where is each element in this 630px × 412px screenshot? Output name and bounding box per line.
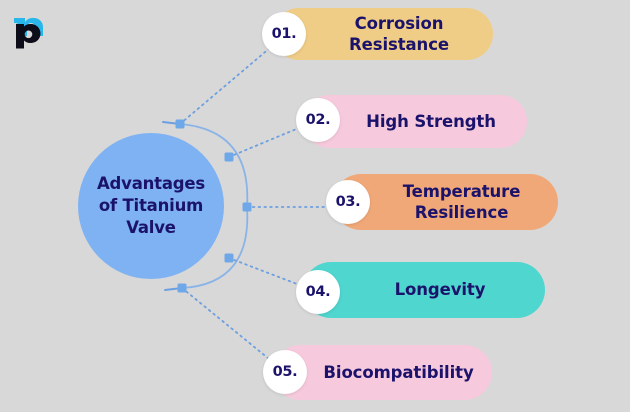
arc-node-3 [243,203,252,212]
item-label-1: Corrosion Resistance [307,13,459,55]
item-label-2: High Strength [324,111,506,132]
arc-node-4 [225,254,234,263]
arc-node-5 [178,284,187,293]
item-number-4: 04. [306,284,331,300]
item-bar-1[interactable]: Corrosion Resistance [273,8,493,60]
pm-logo-mark [10,8,64,52]
item-badge-2[interactable]: 02. [296,98,340,142]
item-badge-3[interactable]: 03. [326,180,370,224]
pm-logo [10,8,64,52]
infographic-canvas: Advantages of Titanium Valve Corrosion R… [0,0,630,412]
item-number-3: 03. [336,194,361,210]
item-badge-1[interactable]: 01. [262,12,306,56]
item-badge-5[interactable]: 05. [263,350,307,394]
arc-node-2 [225,153,234,162]
logo-p-shape [16,24,41,49]
item-number-5: 05. [273,364,298,380]
center-hub-label: Advantages of Titanium Valve [97,173,205,238]
center-hub: Advantages of Titanium Valve [78,133,224,279]
node-stub-1 [163,122,180,124]
item-number-1: 01. [272,26,297,42]
item-label-3: Temperature Resilience [361,181,531,223]
item-badge-4[interactable]: 04. [296,270,340,314]
node-stub-5 [165,288,182,290]
arc-node-1 [176,120,185,129]
item-label-4: Longevity [353,279,496,300]
item-label-5: Biocompatibility [281,362,483,383]
item-number-2: 02. [306,112,331,128]
